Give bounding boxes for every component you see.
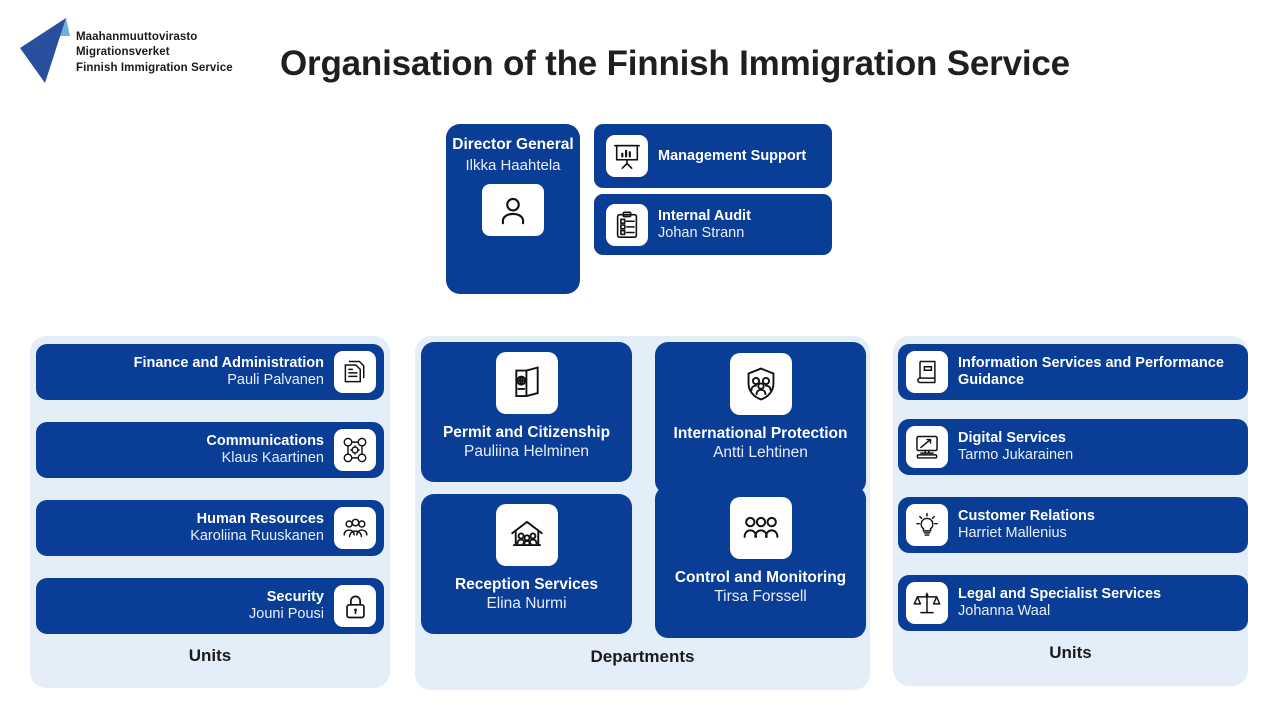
brand-line-en: Finnish Immigration Service [76, 61, 233, 76]
three-people-icon [730, 497, 792, 559]
unit-role: Information Services and Performance Gui… [958, 355, 1248, 388]
management-support-role: Management Support [658, 148, 806, 164]
panel-departments: Permit and Citizenship Pauliina Helminen… [415, 336, 870, 690]
brand-line-sv: Migrationsverket [76, 45, 233, 60]
unit-person: Klaus Kaartinen [222, 450, 324, 467]
department-card-control-and-monitoring: Control and Monitoring Tirsa Forssell [655, 486, 866, 638]
panel-units-right: Information Services and Performance Gui… [893, 336, 1248, 686]
management-support-card: Management Support [594, 124, 832, 188]
director-general-person: Ilkka Haahtela [465, 157, 560, 175]
page-title: Organisation of the Finnish Immigration … [280, 44, 1070, 84]
internal-audit-text: Internal Audit Johan Strann [658, 208, 751, 240]
unit-row-communications: Communications Klaus Kaartinen [36, 422, 384, 478]
panel-label-units-right: Units [893, 643, 1248, 663]
book-icon [906, 351, 948, 393]
people-group-icon [334, 507, 376, 549]
department-card-reception-services: Reception Services Elina Nurmi [421, 494, 632, 634]
unit-row-human-resources: Human Resources Karoliina Ruuskanen [36, 500, 384, 556]
department-person: Elina Nurmi [486, 595, 566, 612]
department-role: Permit and Citizenship [443, 424, 610, 441]
unit-row-legal-and-specialist-services: Legal and Specialist Services Johanna Wa… [898, 575, 1248, 631]
unit-role: Human Resources [197, 511, 324, 528]
internal-audit-person: Johan Strann [658, 225, 751, 241]
internal-audit-card: Internal Audit Johan Strann [594, 194, 832, 255]
presentation-chart-icon [606, 135, 648, 177]
unit-person: Karoliina Ruuskanen [190, 528, 324, 545]
padlock-icon [334, 585, 376, 627]
unit-role: Customer Relations [958, 508, 1095, 525]
documents-icon [334, 351, 376, 393]
unit-person: Johanna Waal [958, 603, 1050, 620]
department-role: Reception Services [455, 576, 598, 593]
computer-monitor-icon [906, 426, 948, 468]
unit-person: Pauli Palvanen [227, 372, 324, 389]
panel-label-units-left: Units [30, 646, 390, 666]
migri-triangle-logo-icon [18, 14, 70, 92]
department-person: Pauliina Helminen [464, 443, 589, 460]
department-card-permit-and-citizenship: Permit and Citizenship Pauliina Helminen [421, 342, 632, 482]
unit-row-digital-services: Digital Services Tarmo Jukarainen [898, 419, 1248, 475]
passport-icon [496, 352, 558, 414]
internal-audit-role: Internal Audit [658, 208, 751, 224]
brand-wordmark: Maahanmuuttovirasto Migrationsverket Fin… [76, 30, 233, 76]
unit-row-customer-relations: Customer Relations Harriet Mallenius [898, 497, 1248, 553]
shield-family-icon [730, 353, 792, 415]
panel-units-left: Finance and Administration Pauli Palvane… [30, 336, 390, 688]
unit-row-finance-and-administration: Finance and Administration Pauli Palvane… [36, 344, 384, 400]
unit-row-security: Security Jouni Pousi [36, 578, 384, 634]
scales-icon [906, 582, 948, 624]
panel-label-departments: Departments [415, 647, 870, 667]
person-icon [482, 184, 544, 236]
unit-person: Harriet Mallenius [958, 525, 1067, 542]
brand-logo: Maahanmuuttovirasto Migrationsverket Fin… [18, 14, 233, 92]
unit-person: Tarmo Jukarainen [958, 447, 1073, 464]
unit-role: Communications [206, 433, 324, 450]
director-general-card: Director General Ilkka Haahtela [446, 124, 580, 294]
director-general-role: Director General [452, 136, 573, 154]
department-role: Control and Monitoring [675, 569, 846, 586]
department-card-international-protection: International Protection Antti Lehtinen [655, 342, 866, 494]
house-family-icon [496, 504, 558, 566]
lightbulb-icon [906, 504, 948, 546]
clipboard-checklist-icon [606, 204, 648, 246]
department-person: Tirsa Forssell [714, 588, 806, 605]
unit-person: Jouni Pousi [249, 606, 324, 623]
department-person: Antti Lehtinen [713, 444, 808, 461]
unit-role: Legal and Specialist Services [958, 586, 1161, 603]
management-support-text: Management Support [658, 148, 806, 164]
unit-row-information-services-and-performance-guidance: Information Services and Performance Gui… [898, 344, 1248, 400]
unit-role: Digital Services [958, 430, 1066, 447]
unit-role: Finance and Administration [134, 355, 324, 372]
people-network-gear-icon [334, 429, 376, 471]
organisation-chart: Maahanmuuttovirasto Migrationsverket Fin… [0, 0, 1280, 720]
department-role: International Protection [674, 425, 848, 442]
unit-role: Security [267, 589, 324, 606]
brand-line-fi: Maahanmuuttovirasto [76, 30, 233, 45]
